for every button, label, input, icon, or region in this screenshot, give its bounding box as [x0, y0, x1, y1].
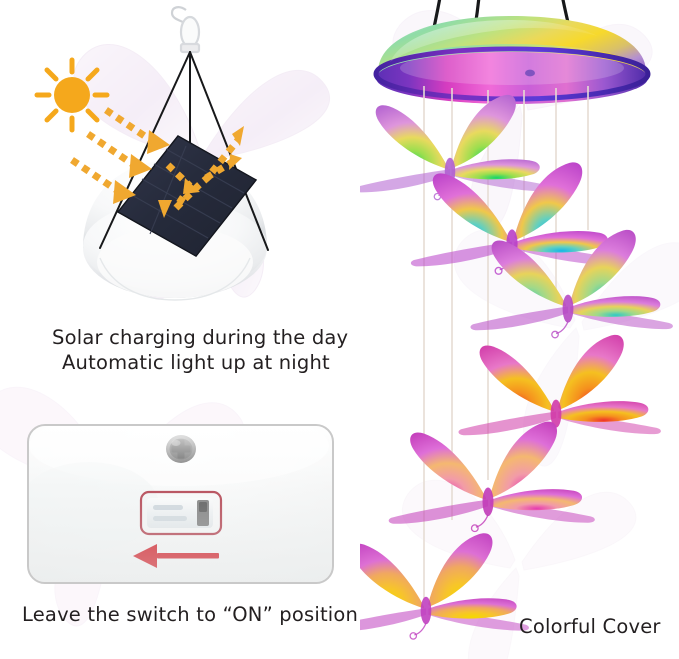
infographic-root: Solar charging during the day Automatic …: [0, 0, 679, 659]
caption-solar-charging: Solar charging during the day Automatic …: [52, 325, 348, 375]
sun-icon: [37, 60, 107, 130]
power-switch: [147, 498, 213, 528]
butterfly-6: [360, 533, 529, 639]
caption-solar-line2: Automatic light up at night: [62, 350, 348, 375]
solar-charging-illustration: [0, 0, 350, 320]
phillips-screw: [166, 435, 196, 463]
rainbow-dome-cover: [376, 16, 648, 104]
direction-arrow-left: [133, 544, 219, 568]
hanging-hook: [172, 7, 199, 52]
butterfly-5: [389, 422, 595, 532]
device-base-photo: [27, 424, 334, 584]
butterfly-4: [459, 335, 661, 443]
caption-colorful-cover: Colorful Cover: [519, 615, 661, 638]
caption-switch-position: Leave the switch to “ON” position: [22, 603, 358, 626]
caption-solar-line1: Solar charging during the day: [52, 326, 348, 349]
colorful-cover-windchime: [360, 0, 679, 659]
